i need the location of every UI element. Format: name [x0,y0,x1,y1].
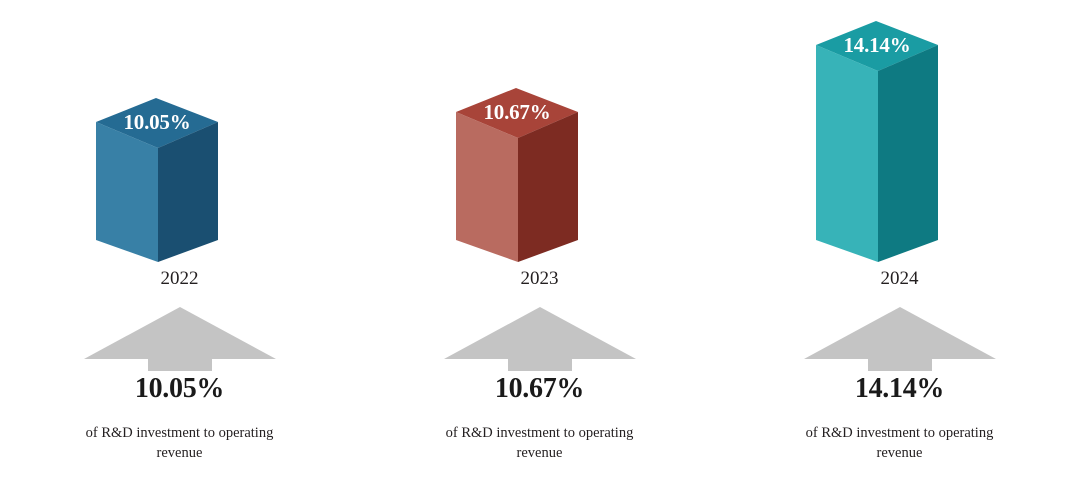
infographic-canvas: 10.05% 2022 10.05% of R&D investment to … [0,0,1079,490]
caption-line-2: revenue [0,444,359,464]
caption-line-1: of R&D investment to operating [720,424,1079,444]
percent-value-2023: 10.67% [360,373,719,405]
bar-front-face [456,112,518,262]
percent-value-2024: 14.14% [720,373,1079,405]
caption-2023: of R&D investment to operating revenue [360,424,719,463]
up-arrow-icon [800,303,1000,371]
caption-line-1: of R&D investment to operating [0,424,359,444]
caption-2022: of R&D investment to operating revenue [0,424,359,463]
bar-3d-2022[interactable]: 10.05% [0,0,359,266]
bar-value-label-2022: 10.05% [77,110,237,135]
bar-value-label-2024: 14.14% [797,33,957,58]
caption-2024: of R&D investment to operating revenue [720,424,1079,463]
bar-side-face [878,45,938,262]
metric-column-2022: 10.05% 2022 10.05% of R&D investment to … [0,0,359,490]
caption-line-1: of R&D investment to operating [360,424,719,444]
bar-value-label-2023: 10.67% [437,100,597,125]
bar-3d-2023[interactable]: 10.67% [360,0,719,266]
year-label-2022: 2022 [0,268,359,290]
percent-value-2022: 10.05% [0,373,359,405]
up-arrow-2024 [720,303,1079,371]
bar-3d-2024[interactable]: 14.14% [720,0,1079,266]
bar-front-face [816,45,878,262]
caption-line-2: revenue [360,444,719,464]
year-label-2023: 2023 [360,268,719,290]
metric-column-2023: 10.67% 2023 10.67% of R&D investment to … [360,0,719,490]
caption-line-2: revenue [720,444,1079,464]
year-label-2024: 2024 [720,268,1079,290]
bar-side-face [518,112,578,262]
bar-3d-shape-2023 [360,0,719,266]
metric-column-2024: 14.14% 2024 14.14% of R&D investment to … [720,0,1079,490]
up-arrow-2022 [0,303,359,371]
up-arrow-icon [80,303,280,371]
up-arrow-icon [440,303,640,371]
up-arrow-2023 [360,303,719,371]
